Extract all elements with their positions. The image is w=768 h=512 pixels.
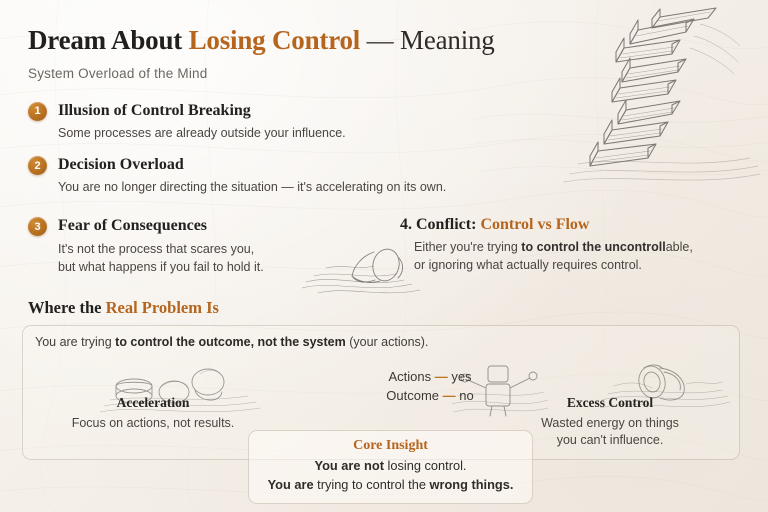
outcome-value: no: [459, 388, 473, 403]
point-prefix: 4. Conflict:: [400, 216, 480, 233]
problem-column-acceleration: Acceleration Focus on actions, not resul…: [23, 395, 283, 449]
number-badge-3: 3: [28, 217, 47, 236]
list-item: 2 Decision Overload You are no longer di…: [28, 155, 768, 196]
outcome-label: Outcome: [386, 388, 439, 403]
list-item: 3 Fear of Consequences It's not the proc…: [28, 216, 400, 275]
outcome-line: Outcome — no: [355, 386, 505, 406]
core-insight-line-1: You are not losing control.: [259, 457, 522, 476]
outcome-dash: —: [443, 388, 456, 403]
core-insight-line-2: You are trying to control the wrong thin…: [259, 476, 522, 495]
insight-line1-bold: You are not: [315, 458, 384, 473]
insight-line1-rest: losing control.: [384, 458, 467, 473]
number-badge-1: 1: [28, 102, 47, 121]
points-list: 1 Illusion of Control Breaking Some proc…: [28, 101, 768, 197]
point-desc-line-2: but what happens if you fail to hold it.: [58, 260, 264, 274]
core-insight-box: Core Insight You are not losing control.…: [248, 430, 533, 504]
page-title: Dream About Losing Control — Meaning: [28, 26, 768, 56]
list-item: 1 Illusion of Control Breaking Some proc…: [28, 101, 768, 142]
insight-line2-mid: trying to control the: [314, 477, 430, 492]
actions-value: yes: [451, 369, 471, 384]
point-title: 4. Conflict: Control vs Flow: [400, 216, 740, 234]
point-accent: Control vs Flow: [480, 216, 589, 233]
point-description: Either you're trying to control the unco…: [414, 238, 740, 274]
title-part-1: Dream About: [28, 25, 189, 55]
lead-pre: You are trying: [35, 335, 115, 349]
core-insight-title: Core Insight: [259, 438, 522, 454]
point-description: Some processes are already outside your …: [58, 124, 768, 142]
point-title: Fear of Consequences: [58, 216, 400, 235]
title-accent: Losing Control: [189, 25, 361, 55]
list-item: 4. Conflict: Control vs Flow Either you'…: [400, 216, 740, 275]
point-description: You are no longer directing the situatio…: [58, 178, 768, 196]
section-title-problem: Where the Real Problem Is: [28, 298, 768, 318]
column-title: Acceleration: [23, 395, 283, 411]
insight-line2-bold: wrong things.: [430, 477, 514, 492]
panel-lead-text: You are trying to control the outcome, n…: [23, 326, 739, 349]
column-sub-line-2: you can't influence.: [557, 433, 664, 447]
number-badge-2: 2: [28, 156, 47, 175]
point-desc-post: able,: [666, 240, 693, 254]
insight-line2-pre: You are: [268, 477, 314, 492]
page-subtitle: System Overload of the Mind: [28, 66, 768, 81]
lead-bold: to control the outcome, not the system: [115, 335, 346, 349]
point-title: Illusion of Control Breaking: [58, 101, 768, 120]
section-title-pre: Where the: [28, 298, 106, 317]
point-desc-bold: to control the uncontroll: [521, 240, 665, 254]
title-part-2: Meaning: [400, 25, 495, 55]
point-desc-line-2: or ignoring what actually requires contr…: [414, 258, 642, 272]
points-row-two: 3 Fear of Consequences It's not the proc…: [28, 216, 768, 275]
column-subtitle: Focus on actions, not results.: [23, 415, 283, 432]
actions-outcome-lines: Actions — yes Outcome — no: [355, 367, 505, 406]
actions-dash: —: [435, 369, 448, 384]
column-sub-line-1: Wasted energy on things: [541, 416, 679, 430]
section-title-accent: Real Problem Is: [106, 298, 219, 317]
point-desc-pre: Either you're trying: [414, 240, 521, 254]
actions-label: Actions: [388, 369, 431, 384]
actions-line: Actions — yes: [355, 367, 505, 387]
point-desc-line-1: It's not the process that scares you,: [58, 242, 254, 256]
title-dash: —: [360, 25, 400, 55]
header: Dream About Losing Control — Meaning Sys…: [0, 0, 768, 81]
lead-post: (your actions).: [346, 335, 429, 349]
point-title: Decision Overload: [58, 155, 768, 174]
point-description: It's not the process that scares you, bu…: [58, 240, 400, 276]
column-title: Excess Control: [481, 395, 739, 411]
